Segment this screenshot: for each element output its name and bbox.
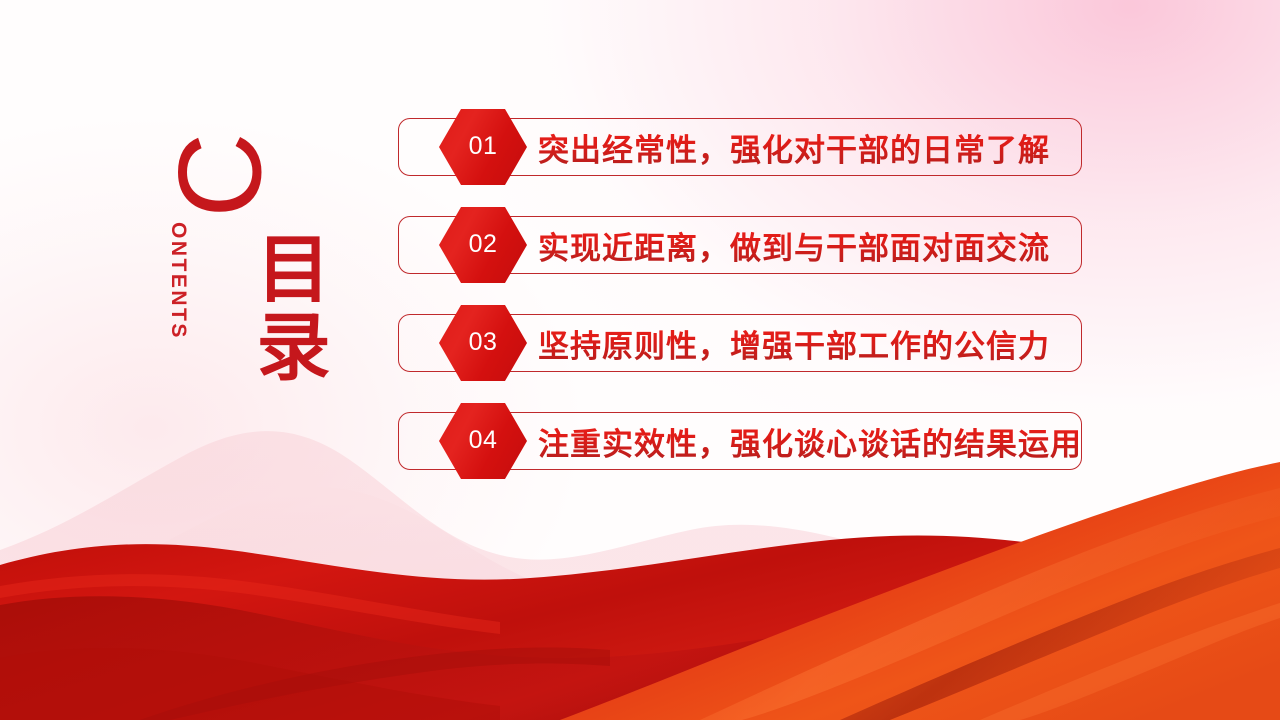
toc-item-label: 实现近距离，做到与干部面对面交流 (538, 216, 1050, 274)
contents-word-label: ONTENTS (166, 222, 190, 340)
page-title-chinese: 目录 (250, 230, 321, 386)
toc-item-02[interactable]: 02 实现近距离，做到与干部面对面交流 (398, 216, 1082, 274)
toc-item-03[interactable]: 03 坚持原则性，增强干部工作的公信力 (398, 314, 1082, 372)
contents-initial-letter: C (173, 133, 267, 218)
contents-heading-group: C ONTENTS 目录 (150, 110, 390, 440)
slide-canvas: C ONTENTS 目录 01 突出经常性，强化对干部的日常了解 02 实现近距… (0, 0, 1280, 720)
toc-item-01[interactable]: 01 突出经常性，强化对干部的日常了解 (398, 118, 1082, 176)
toc-item-number: 03 (469, 328, 498, 357)
toc-item-number: 04 (469, 426, 498, 455)
toc-item-label: 突出经常性，强化对干部的日常了解 (538, 118, 1050, 176)
toc-item-number: 01 (469, 132, 498, 161)
toc-item-label: 坚持原则性，增强干部工作的公信力 (538, 314, 1050, 372)
toc-item-number: 02 (469, 230, 498, 259)
toc-item-04[interactable]: 04 注重实效性，强化谈心谈话的结果运用 (398, 412, 1082, 470)
table-of-contents-list: 01 突出经常性，强化对干部的日常了解 02 实现近距离，做到与干部面对面交流 … (398, 118, 1082, 470)
toc-item-label: 注重实效性，强化谈心谈话的结果运用 (538, 412, 1082, 470)
